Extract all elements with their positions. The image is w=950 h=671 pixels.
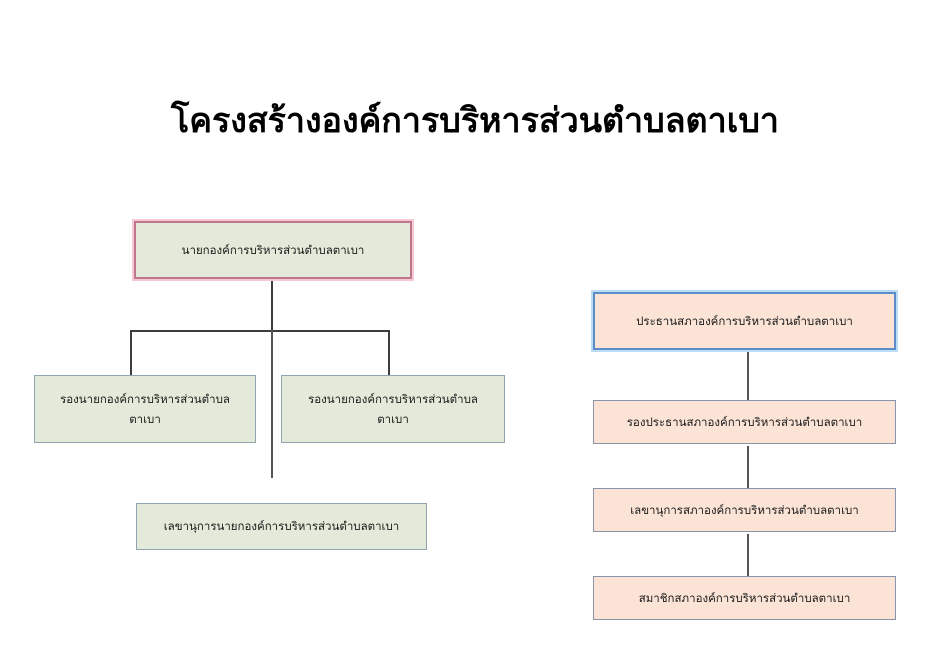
connector-council-vice-chair-to-secretary <box>747 446 749 488</box>
node-executive-secretary-label: เลขานุการนายกองค์การบริหารส่วนตำบลตาเบา <box>164 516 400 536</box>
connector-executive-deputy-1-drop <box>130 330 132 375</box>
connector-executive-secretary-stem <box>271 330 273 478</box>
node-executive-head[interactable]: นายกองค์การบริหารส่วนตำบลตาเบา <box>134 221 412 279</box>
node-executive-head-label: นายกองค์การบริหารส่วนตำบลตาเบา <box>182 240 365 260</box>
node-council-chair-label: ประธานสภาองค์การบริหารส่วนตำบลตาเบา <box>636 311 853 331</box>
node-council-secretary[interactable]: เลขานุการสภาองค์การบริหารส่วนตำบลตาเบา <box>593 488 896 532</box>
node-executive-deputy-2-label-line2: ตาเบา <box>377 409 409 429</box>
node-council-secretary-label: เลขานุการสภาองค์การบริหารส่วนตำบลตาเบา <box>630 500 859 520</box>
connector-council-chair-to-vice-chair <box>747 352 749 400</box>
connector-executive-deputy-2-drop <box>388 330 390 375</box>
node-executive-deputy-2[interactable]: รองนายกองค์การบริหารส่วนตำบล ตาเบา <box>281 375 505 443</box>
node-council-vice-chair[interactable]: รองประธานสภาองค์การบริหารส่วนตำบลตาเบา <box>593 400 896 444</box>
node-executive-deputy-1-label-line1: รองนายกองค์การบริหารส่วนตำบล <box>60 389 230 409</box>
node-executive-deputy-1-label-line2: ตาเบา <box>129 409 161 429</box>
node-council-vice-chair-label: รองประธานสภาองค์การบริหารส่วนตำบลตาเบา <box>627 412 862 432</box>
node-council-members[interactable]: สมาชิกสภาองค์การบริหารส่วนตำบลตาเบา <box>593 576 896 620</box>
node-executive-deputy-1[interactable]: รองนายกองค์การบริหารส่วนตำบล ตาเบา <box>34 375 256 443</box>
node-executive-secretary[interactable]: เลขานุการนายกองค์การบริหารส่วนตำบลตาเบา <box>136 503 427 550</box>
node-executive-deputy-2-label-line1: รองนายกองค์การบริหารส่วนตำบล <box>308 389 478 409</box>
connector-executive-horizontal-bar <box>130 330 389 332</box>
node-council-members-label: สมาชิกสภาองค์การบริหารส่วนตำบลตาเบา <box>639 588 851 608</box>
node-council-chair[interactable]: ประธานสภาองค์การบริหารส่วนตำบลตาเบา <box>593 292 896 350</box>
connector-council-secretary-to-members <box>747 534 749 576</box>
connector-executive-head-stem <box>271 281 273 331</box>
page-title: โครงสร้างองค์การบริหารส่วนตำบลตาเบา <box>0 100 950 143</box>
org-chart-canvas: โครงสร้างองค์การบริหารส่วนตำบลตาเบา นายก… <box>0 0 950 671</box>
